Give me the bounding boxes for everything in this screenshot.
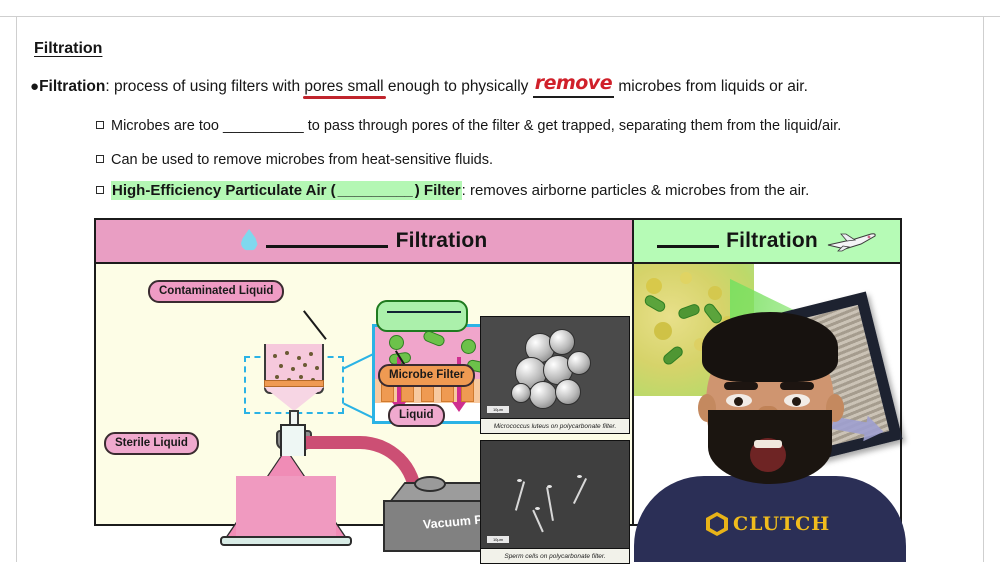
- red-underlined-phrase: pores small: [304, 78, 383, 95]
- membrane-filter: [264, 380, 324, 387]
- sub-bullet-1: Microbes are too __________ to pass thro…: [96, 118, 841, 134]
- page-border-right: [983, 16, 984, 562]
- liquid-panel-header: Filtration: [96, 220, 632, 264]
- airplane-icon: [825, 230, 877, 252]
- micrograph-micrococcus: 10µm Micrococcus luteus on polycarbonate…: [480, 316, 630, 434]
- sub-bullet-2-text: Can be used to remove microbes from heat…: [111, 152, 493, 168]
- sub-bullet-1-before: Microbes are too: [111, 118, 223, 134]
- shirt-logo: CLUTCH: [706, 512, 830, 536]
- sub-bullet-hepa: High-Efficiency Particulate Air (_______…: [96, 182, 809, 199]
- liquid-panel-body: Vacuum Pump: [96, 264, 632, 524]
- page-border-left: [16, 16, 17, 562]
- micrograph-caption-1: Micrococcus luteus on polycarbonate filt…: [481, 418, 629, 433]
- sub-bullet-2: Can be used to remove microbes from heat…: [96, 152, 493, 168]
- zoom-connector-top: [343, 353, 374, 370]
- bullet-text-3: microbes from liquids or air.: [614, 78, 808, 95]
- microbe-coccus: [389, 335, 404, 350]
- contaminant-particles: [269, 348, 319, 384]
- funnel-cone: [264, 387, 324, 411]
- instructor-mouth: [750, 438, 786, 472]
- label-microbe-filter: Microbe Filter: [378, 364, 475, 387]
- bullet-text-2: enough to physically: [384, 78, 533, 95]
- hepa-answer-blank: _________: [337, 181, 414, 200]
- instructor-hair: [702, 312, 838, 382]
- sub-bullet-1-after: to pass through pores of the filter & ge…: [304, 118, 842, 134]
- flask-neck: [280, 424, 306, 456]
- hexagon-icon: [706, 512, 728, 536]
- sub-bullet-1-blank: __________: [223, 118, 304, 134]
- checkbox-square-icon: [96, 155, 104, 163]
- label-blank-callout: [376, 300, 468, 332]
- instructor-eye-right: [784, 394, 810, 407]
- air-header-word: Filtration: [726, 229, 818, 253]
- liquid-header-blank: [266, 234, 388, 248]
- main-bullet: ●Filtration: process of using filters wi…: [30, 74, 970, 98]
- scale-bar: 10µm: [487, 406, 509, 413]
- label-liquid: Liquid: [388, 404, 445, 427]
- bullet-text-1: : process of using filters with: [105, 78, 304, 95]
- liquid-filtration-panel: Filtration: [96, 220, 632, 524]
- zoom-connector-bottom: [343, 403, 374, 420]
- page-border-top: [0, 16, 1000, 17]
- label-sterile-liquid: Sterile Liquid: [104, 432, 199, 455]
- bullet-marker: ●: [30, 78, 39, 95]
- answer-blank-remove: remove: [533, 74, 614, 98]
- air-header-blank: [657, 234, 719, 248]
- liquid-header-word: Filtration: [396, 229, 488, 253]
- slide-canvas: Filtration ●Filtration: process of using…: [0, 0, 1000, 562]
- air-panel-header: Filtration: [634, 220, 900, 264]
- micrograph-caption-2: Sperm cells on polycarbonate filter.: [481, 548, 629, 563]
- microbe-coccus: [461, 339, 476, 354]
- flask-base: [220, 536, 352, 546]
- hepa-tail-text: : removes airborne particles & microbes …: [462, 182, 810, 199]
- page-title: Filtration: [34, 40, 102, 58]
- bullet-keyword: Filtration: [39, 78, 105, 95]
- checkbox-square-icon: [96, 121, 104, 129]
- instructor-video-overlay[interactable]: CLUTCH: [628, 290, 910, 562]
- label-contaminated-liquid: Contaminated Liquid: [148, 280, 284, 303]
- checkbox-square-icon: [96, 186, 104, 194]
- shirt-logo-text: CLUTCH: [733, 513, 830, 535]
- water-droplet-icon: [241, 229, 258, 251]
- hepa-highlight-before: High-Efficiency Particulate Air (: [111, 181, 337, 200]
- leader-contaminated: [303, 310, 326, 339]
- scale-bar: 10µm: [487, 536, 509, 543]
- instructor-brow-left: [724, 382, 758, 390]
- instructor-brow-right: [780, 382, 814, 390]
- micrograph-sperm: 10µm Sperm cells on polycarbonate filter…: [480, 440, 630, 564]
- pump-nozzle: [414, 476, 446, 492]
- instructor-eye-left: [726, 394, 752, 407]
- hepa-highlight-after: ) Filter: [414, 181, 462, 200]
- handwritten-answer: remove: [535, 72, 612, 94]
- label-blank-line: [387, 311, 461, 313]
